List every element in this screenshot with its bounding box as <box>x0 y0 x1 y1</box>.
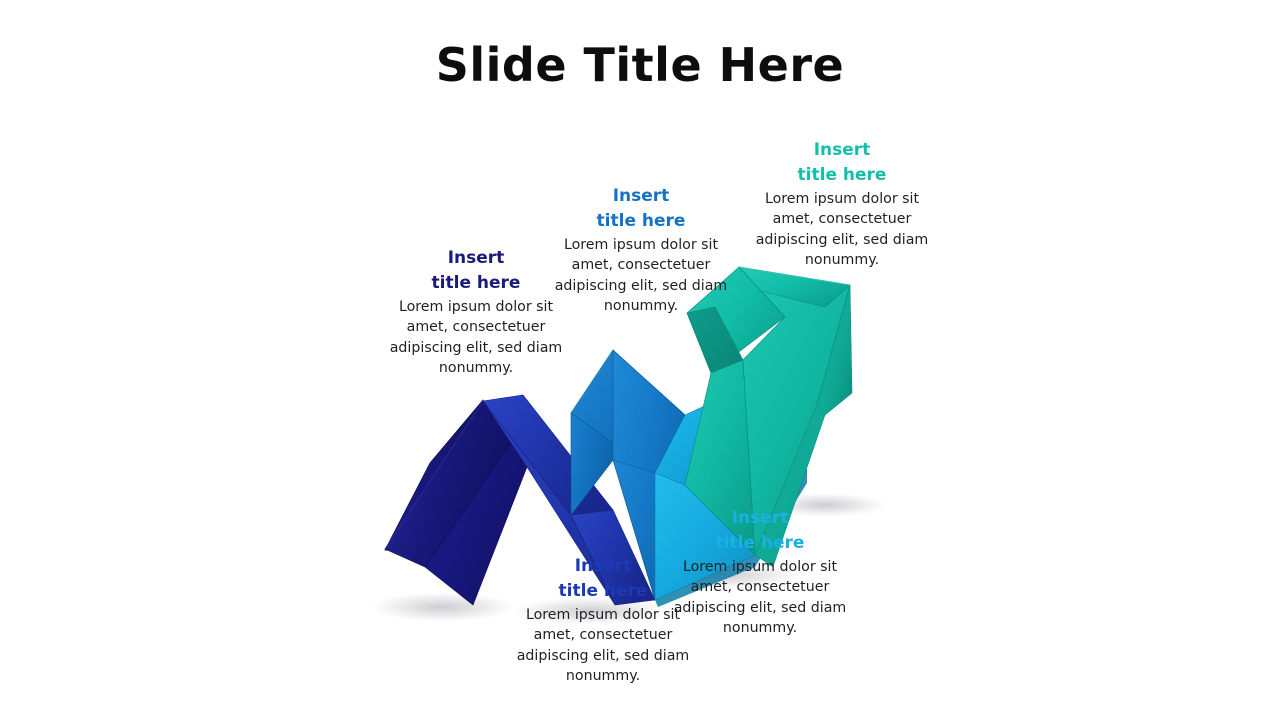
callout-3-body: Lorem ipsum dolor sit amet, consectetuer… <box>551 235 731 316</box>
callout-1-body: Lorem ipsum dolor sit amet, consectetuer… <box>386 297 566 378</box>
callout-2-title: Insert title here <box>512 554 694 603</box>
callout-2: Insert title here Lorem ipsum dolor sit … <box>512 554 694 686</box>
callout-4-title: Insert title here <box>668 506 852 555</box>
callout-5: Insert title here Lorem ipsum dolor sit … <box>750 138 934 270</box>
callout-1: Insert title here Lorem ipsum dolor sit … <box>386 246 566 378</box>
callout-3: Insert title here Lorem ipsum dolor sit … <box>551 184 731 316</box>
page-title: Slide Title Here <box>0 40 1280 91</box>
callout-5-title: Insert title here <box>750 138 934 187</box>
callout-4-body: Lorem ipsum dolor sit amet, consectetuer… <box>668 557 852 638</box>
callout-5-body: Lorem ipsum dolor sit amet, consectetuer… <box>750 189 934 270</box>
callout-3-title: Insert title here <box>551 184 731 233</box>
callout-1-title: Insert title here <box>386 246 566 295</box>
slide-canvas: Slide Title Here <box>0 0 1280 720</box>
callout-4: Insert title here Lorem ipsum dolor sit … <box>668 506 852 638</box>
callout-2-body: Lorem ipsum dolor sit amet, consectetuer… <box>512 605 694 686</box>
